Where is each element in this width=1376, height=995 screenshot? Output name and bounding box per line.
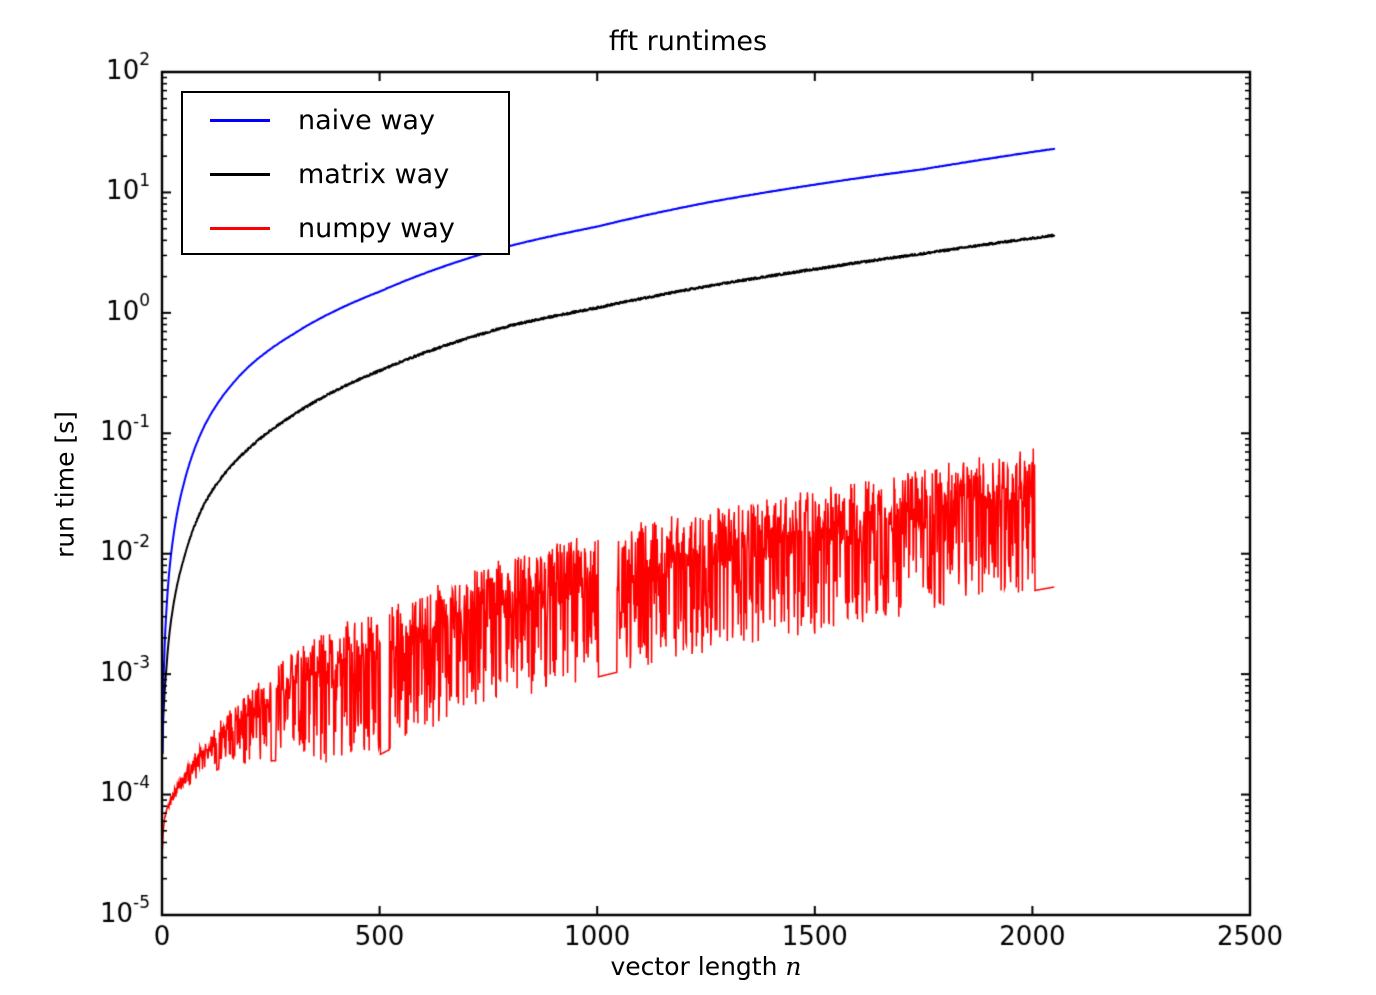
chart-legend[interactable]: naive way matrix way numpy way <box>181 91 510 255</box>
legend-label-numpy-way: numpy way <box>298 213 455 244</box>
legend-entry-matrix-way[interactable]: matrix way <box>183 147 508 201</box>
legend-swatch-numpy-way <box>210 227 270 230</box>
legend-entry-naive-way[interactable]: naive way <box>183 93 508 147</box>
legend-entry-numpy-way[interactable]: numpy way <box>183 201 508 255</box>
figure-canvas-container: fft runtimes vector length n run time [s… <box>0 0 1376 995</box>
legend-swatch-matrix-way <box>210 173 270 176</box>
legend-label-matrix-way: matrix way <box>298 159 449 190</box>
legend-label-naive-way: naive way <box>298 105 435 136</box>
legend-swatch-naive-way <box>210 119 270 122</box>
